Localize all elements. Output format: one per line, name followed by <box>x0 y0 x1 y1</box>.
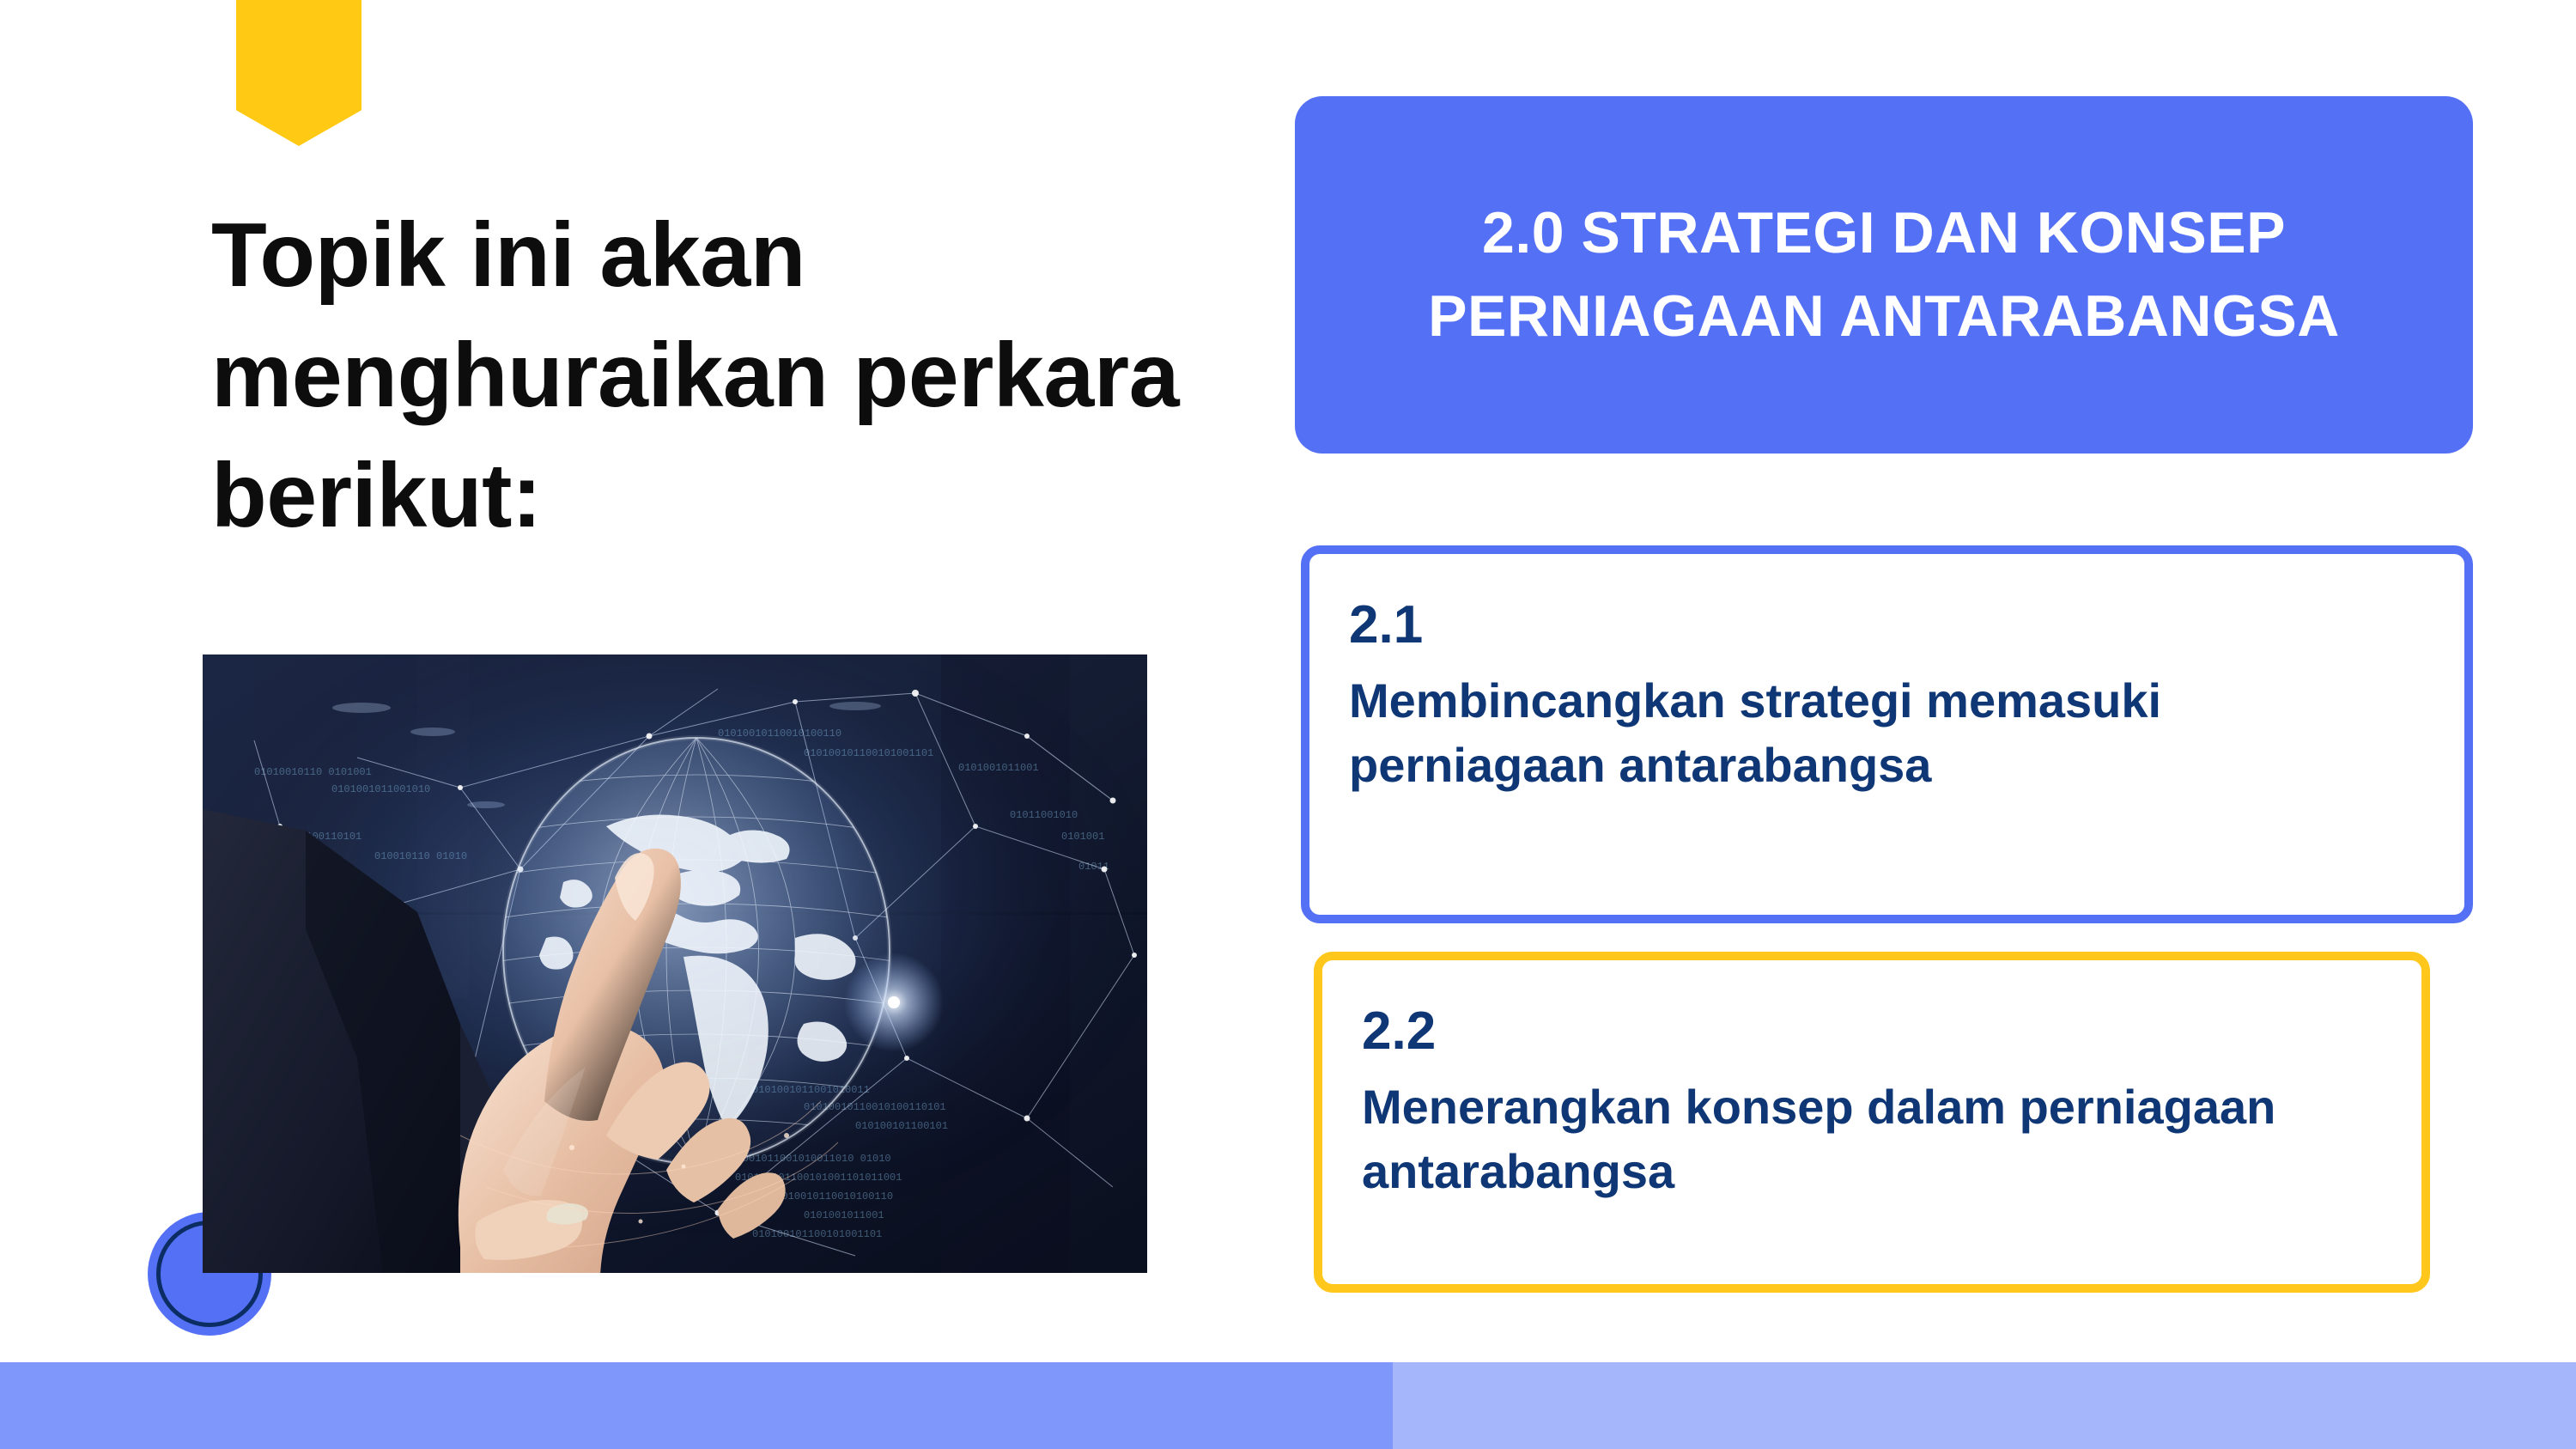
slide-canvas: Topik ini akan menghuraikan perkara beri… <box>0 0 2576 1449</box>
objective-text: Membincangkan strategi memasuki perniaga… <box>1349 668 2425 797</box>
svg-text:0101001011001010: 0101001011001010 <box>331 783 430 795</box>
svg-text:01010010110010100110: 01010010110010100110 <box>769 1190 893 1202</box>
svg-text:0101001: 0101001 <box>1061 831 1104 843</box>
globe-network-hand-photo: 01010010110 0101001 0101001011001010 101… <box>203 654 1147 1273</box>
svg-text:010100101100101001101: 010100101100101001101 <box>804 747 933 759</box>
svg-text:0101001011001: 0101001011001 <box>804 1209 884 1221</box>
objective-text: Menerangkan konsep dalam perniagaan anta… <box>1362 1075 2382 1203</box>
section-header-card: 2.0 STRATEGI DAN KONSEP PERNIAGAAN ANTAR… <box>1295 96 2473 454</box>
objective-card-2-2[interactable]: 2.2 Menerangkan konsep dalam perniagaan … <box>1314 952 2430 1293</box>
svg-text:01011001010: 01011001010 <box>1010 809 1078 821</box>
objective-card-2-1[interactable]: 2.1 Membincangkan strategi memasuki pern… <box>1301 545 2473 923</box>
objective-number: 2.1 <box>1349 597 2425 653</box>
svg-text:01010010110010100110: 01010010110010100110 <box>718 728 841 740</box>
svg-text:010010110 01010: 010010110 01010 <box>374 850 467 862</box>
section-header-title: 2.0 STRATEGI DAN KONSEP PERNIAGAAN ANTAR… <box>1336 192 2432 357</box>
footer-bar-left <box>0 1362 1393 1449</box>
svg-text:010100101100101: 010100101100101 <box>855 1120 948 1132</box>
svg-text:0101001011001: 0101001011001 <box>958 762 1039 774</box>
svg-text:01010010110 0101001: 01010010110 0101001 <box>254 766 372 778</box>
bookmark-marker-icon <box>236 0 361 146</box>
footer-bar-right <box>1393 1362 2576 1449</box>
objective-number: 2.2 <box>1362 1003 2382 1059</box>
page-title: Topik ini akan menghuraikan perkara beri… <box>211 196 1190 557</box>
